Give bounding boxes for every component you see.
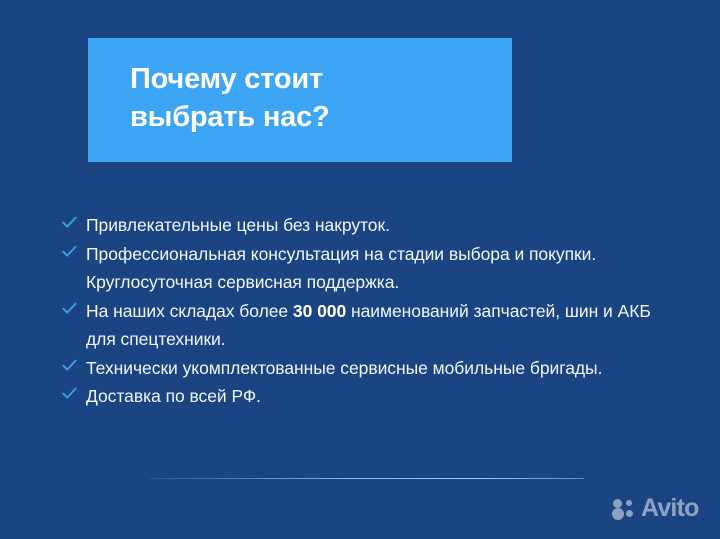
list-item: Доставка по всей РФ.	[62, 382, 682, 411]
list-item: Профессиональная консультация на стадии …	[62, 240, 682, 297]
list-item-text: На наших складах более 30 000 наименован…	[86, 297, 682, 354]
text-run: На наших складах более	[86, 301, 293, 321]
avito-wordmark: Avito	[641, 496, 699, 520]
text-run: Технически укомплектованные сервисные мо…	[86, 358, 602, 378]
list-item-text: Технически укомплектованные сервисные мо…	[86, 354, 682, 383]
page-title-line-1: Почему стоит	[130, 60, 512, 98]
list-item-text: Профессиональная консультация на стадии …	[86, 240, 682, 297]
text-run: Профессиональная консультация на стадии …	[86, 244, 596, 293]
list-item: На наших складах более 30 000 наименован…	[62, 297, 682, 354]
highlight-number: 30 000	[293, 301, 346, 321]
list-item-text: Доставка по всей РФ.	[86, 382, 682, 411]
slide-canvas: Почему стоит выбрать нас? Привлекательны…	[0, 0, 720, 539]
check-icon	[62, 354, 86, 372]
list-item-text: Привлекательные цены без накруток.	[86, 211, 682, 240]
text-run: Доставка по всей РФ.	[86, 386, 261, 406]
check-icon	[62, 240, 86, 258]
check-icon	[62, 211, 86, 229]
page-title-line-2: выбрать нас?	[130, 98, 512, 136]
divider-line	[150, 478, 584, 479]
text-run: Привлекательные цены без накруток.	[86, 215, 390, 235]
avito-watermark: Avito	[612, 496, 699, 520]
check-icon	[62, 382, 86, 400]
list-item: Привлекательные цены без накруток.	[62, 211, 682, 240]
list-item: Технически укомплектованные сервисные мо…	[62, 354, 682, 383]
title-banner: Почему стоит выбрать нас?	[88, 38, 512, 162]
avito-dots-icon	[612, 496, 638, 520]
benefits-list: Привлекательные цены без накруток.Профес…	[62, 211, 682, 411]
check-icon	[62, 297, 86, 315]
